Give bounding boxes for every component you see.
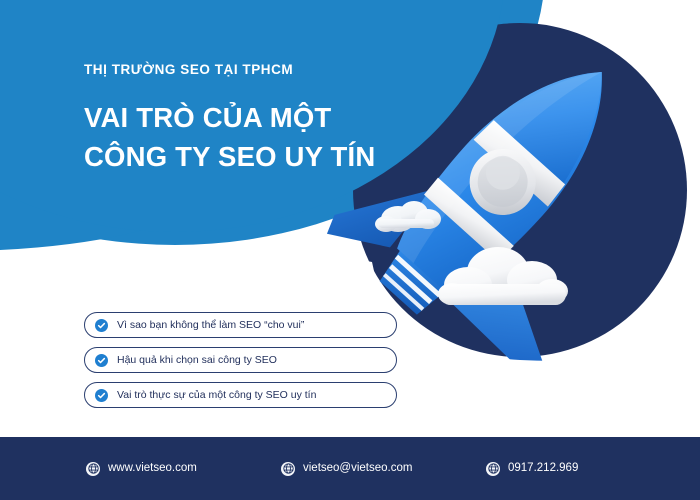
headline-block: THỊ TRƯỜNG SEO TẠI TPHCM VAI TRÒ CỦA MỘT…: [84, 62, 414, 176]
title-line-1: VAI TRÒ CỦA MỘT: [84, 102, 331, 133]
footer-phone-label: 0917.212.969: [508, 463, 578, 475]
footer-website-label: www.vietseo.com: [108, 463, 197, 475]
list-item[interactable]: Vai trò thực sự của một công ty SEO uy t…: [84, 382, 397, 408]
page-title: VAI TRÒ CỦA MỘT CÔNG TY SEO UY TÍN: [84, 98, 414, 176]
list-item[interactable]: Vì sao bạn không thể làm SEO “cho vui”: [84, 312, 397, 338]
list-item[interactable]: Hậu quả khi chọn sai công ty SEO: [84, 347, 397, 373]
list-item-label: Vai trò thực sự của một công ty SEO uy t…: [117, 390, 316, 401]
globe-icon: [281, 462, 295, 476]
list-item-label: Hậu quả khi chọn sai công ty SEO: [117, 355, 277, 366]
kicker-text: THỊ TRƯỜNG SEO TẠI TPHCM: [84, 62, 414, 78]
globe-icon: [486, 462, 500, 476]
bullet-list: Vì sao bạn không thể làm SEO “cho vui” H…: [84, 312, 397, 408]
footer-website[interactable]: www.vietseo.com: [86, 462, 197, 476]
list-item-label: Vì sao bạn không thể làm SEO “cho vui”: [117, 320, 304, 331]
footer-bar: www.vietseo.com vietseo@vietseo.com: [0, 437, 700, 500]
footer-email-label: vietseo@vietseo.com: [303, 463, 412, 475]
check-circle-icon: [95, 354, 108, 367]
footer-phone[interactable]: 0917.212.969: [486, 462, 578, 476]
footer-email[interactable]: vietseo@vietseo.com: [281, 462, 412, 476]
check-circle-icon: [95, 389, 108, 402]
title-line-2: CÔNG TY SEO UY TÍN: [84, 137, 414, 176]
poster-canvas: THỊ TRƯỜNG SEO TẠI TPHCM VAI TRÒ CỦA MỘT…: [0, 0, 700, 500]
globe-icon: [86, 462, 100, 476]
check-circle-icon: [95, 319, 108, 332]
